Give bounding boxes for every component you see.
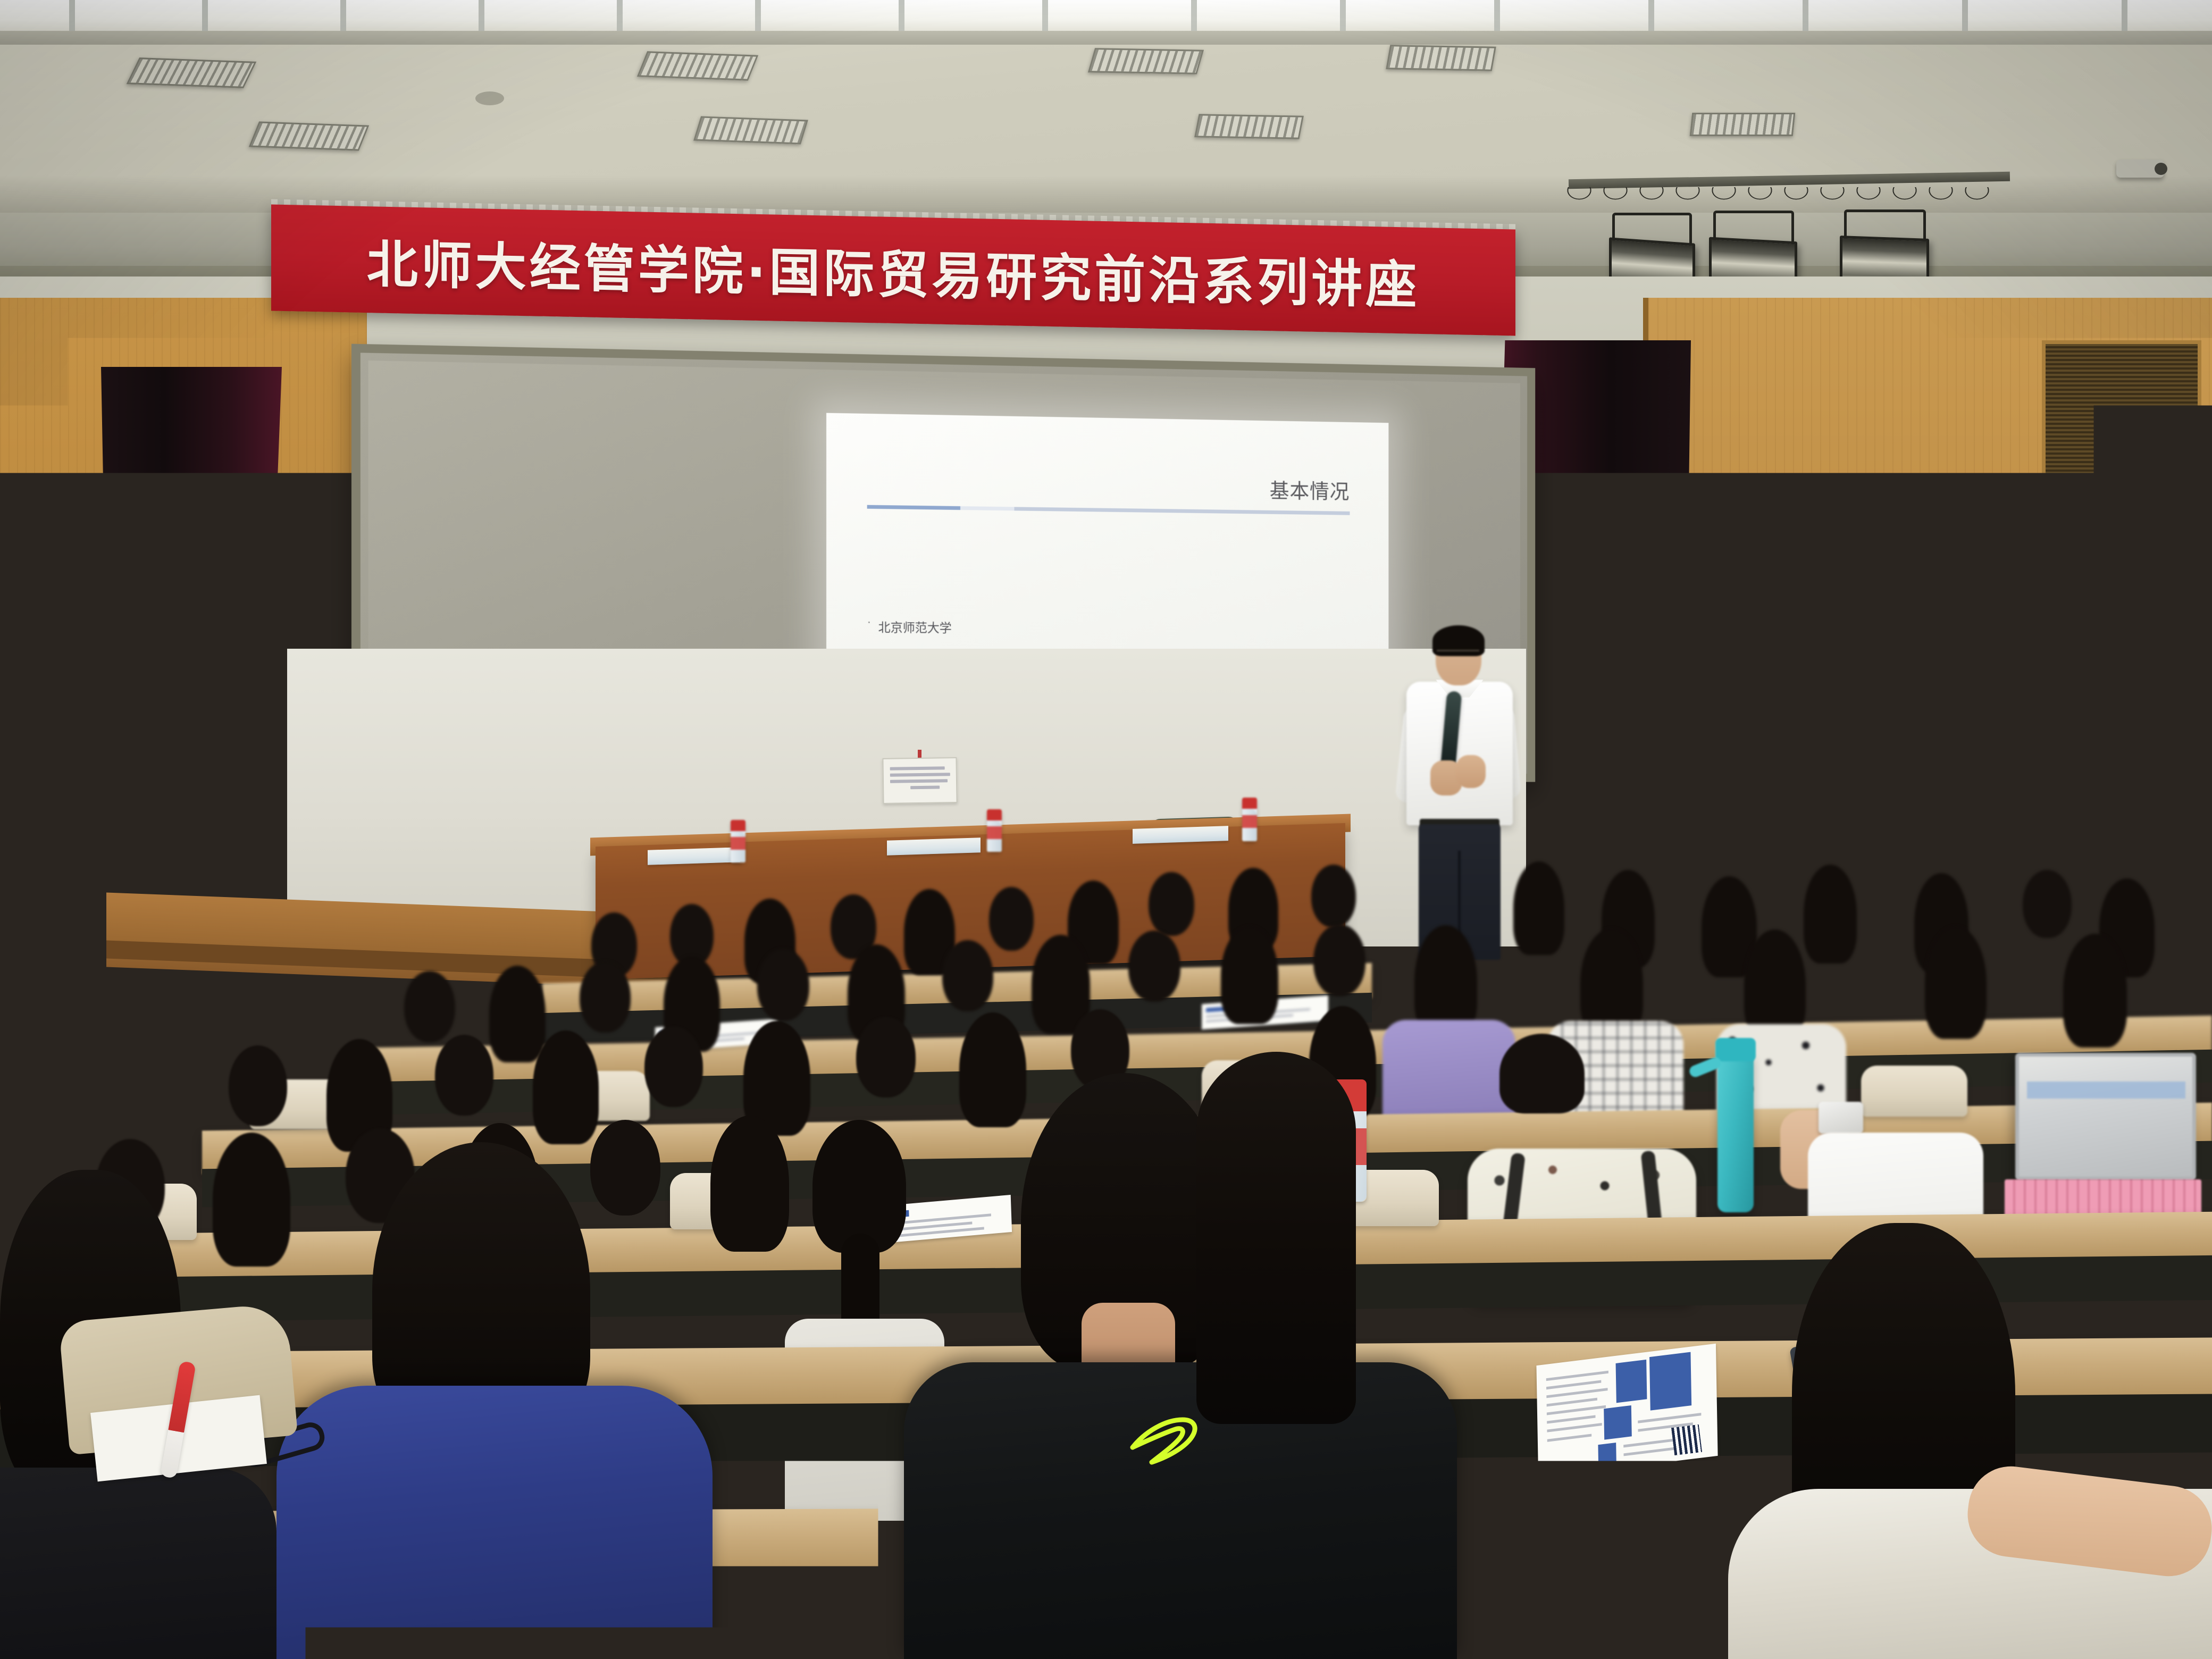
wall-camera-lens-icon [1974, 504, 1988, 518]
gooseneck-microphone-icon [1692, 701, 1702, 715]
audience-head [959, 1012, 1026, 1127]
audience-body [0, 1468, 276, 1659]
slide-title: 基本情况 [867, 468, 1350, 504]
slide-bullet-1: · 北京师范大学 [867, 617, 1350, 639]
ceiling-camera-lens-icon [2155, 163, 2167, 175]
teal-water-bottle-icon[interactable] [1717, 1053, 1754, 1212]
air-vent-icon [693, 116, 808, 144]
audience-head [1128, 931, 1180, 1002]
handout-paper[interactable] [1536, 1344, 1717, 1478]
audience-head [1744, 929, 1806, 1040]
head-table-nameplate [1133, 826, 1228, 844]
audience-head [213, 1133, 290, 1267]
wall-camera-arm [1914, 481, 1925, 509]
audience-head [2063, 934, 2127, 1048]
black-hoodie-student-body [904, 1362, 1457, 1659]
purple-shirt-student [1382, 1020, 1515, 1121]
head-table-nameplate [648, 847, 740, 865]
qr-code-icon [1671, 1425, 1702, 1455]
audience-head [580, 961, 631, 1033]
audience-head [590, 1120, 660, 1216]
slide-accent-rule [867, 505, 1350, 515]
audience-head [229, 1045, 287, 1126]
audience-head [1149, 872, 1194, 936]
audience-head [1313, 924, 1365, 996]
water-bottle-icon[interactable] [987, 809, 1002, 852]
smartphone-icon[interactable] [1819, 1102, 1863, 1134]
audience-head [942, 940, 993, 1011]
banner-text: 北师大经管学院·国际贸易研究前沿系列讲座 [367, 223, 1420, 318]
audience-head [1221, 926, 1278, 1024]
audience-head [435, 1035, 493, 1116]
bullet-marker-icon: · [867, 617, 870, 628]
water-bottle-icon[interactable] [731, 820, 745, 862]
water-bottle-icon[interactable] [1242, 798, 1257, 841]
ceiling-skylight-strip [0, 0, 2212, 33]
podium-document [1748, 733, 1775, 784]
wall-placard [882, 757, 957, 804]
audience-head [856, 1017, 916, 1097]
auditorium-seat[interactable] [1861, 1066, 1967, 1117]
air-vent-icon [1386, 45, 1496, 71]
louvered-vent-panel-upper [2042, 340, 2201, 505]
nike-swoosh-logo-icon [1127, 1417, 1212, 1468]
air-vent-icon [1690, 113, 1796, 136]
smoke-detector-icon [475, 91, 504, 105]
speaker-glasses-icon [1437, 650, 1479, 651]
audience-head [989, 887, 1034, 951]
air-vent-icon [127, 57, 257, 88]
slide-bullet-1-text: 北京师范大学 [878, 617, 952, 636]
long-hair-student [1196, 1052, 1356, 1424]
audience-head [533, 1030, 599, 1144]
audience-head [812, 1120, 906, 1253]
speaker-right-hand [1456, 755, 1486, 788]
stage-curtain-left [101, 367, 282, 936]
air-vent-icon [249, 121, 369, 150]
audience-head [1311, 865, 1356, 927]
air-vent-icon [1194, 114, 1304, 139]
lecture-hall-photo: 北师大经管学院·国际贸易研究前沿系列讲座 基本情况 · 北京师范大学 · 经济与… [0, 0, 2212, 1659]
ceiling-beam [0, 31, 2212, 45]
audience-head [1499, 1034, 1585, 1113]
audience-head [404, 971, 455, 1042]
audience-head [1513, 861, 1564, 955]
teal-bottle-cap-icon [1715, 1038, 1756, 1061]
audience-head [757, 949, 809, 1021]
audience-head [710, 1116, 789, 1252]
student-laptop-icon[interactable] [2015, 1053, 2196, 1180]
audience-head [644, 1026, 703, 1107]
audience-head [1804, 865, 1857, 963]
laptop-screen-content [2027, 1082, 2185, 1099]
air-vent-icon [637, 51, 758, 80]
audience-head [2023, 870, 2072, 938]
air-vent-icon [1088, 48, 1204, 74]
audience-head [1925, 926, 1987, 1039]
louvered-vent-panel-lower [2042, 521, 2201, 819]
head-table-nameplate [887, 837, 981, 856]
speaker-hair [1432, 625, 1485, 656]
audience-head [489, 966, 546, 1062]
